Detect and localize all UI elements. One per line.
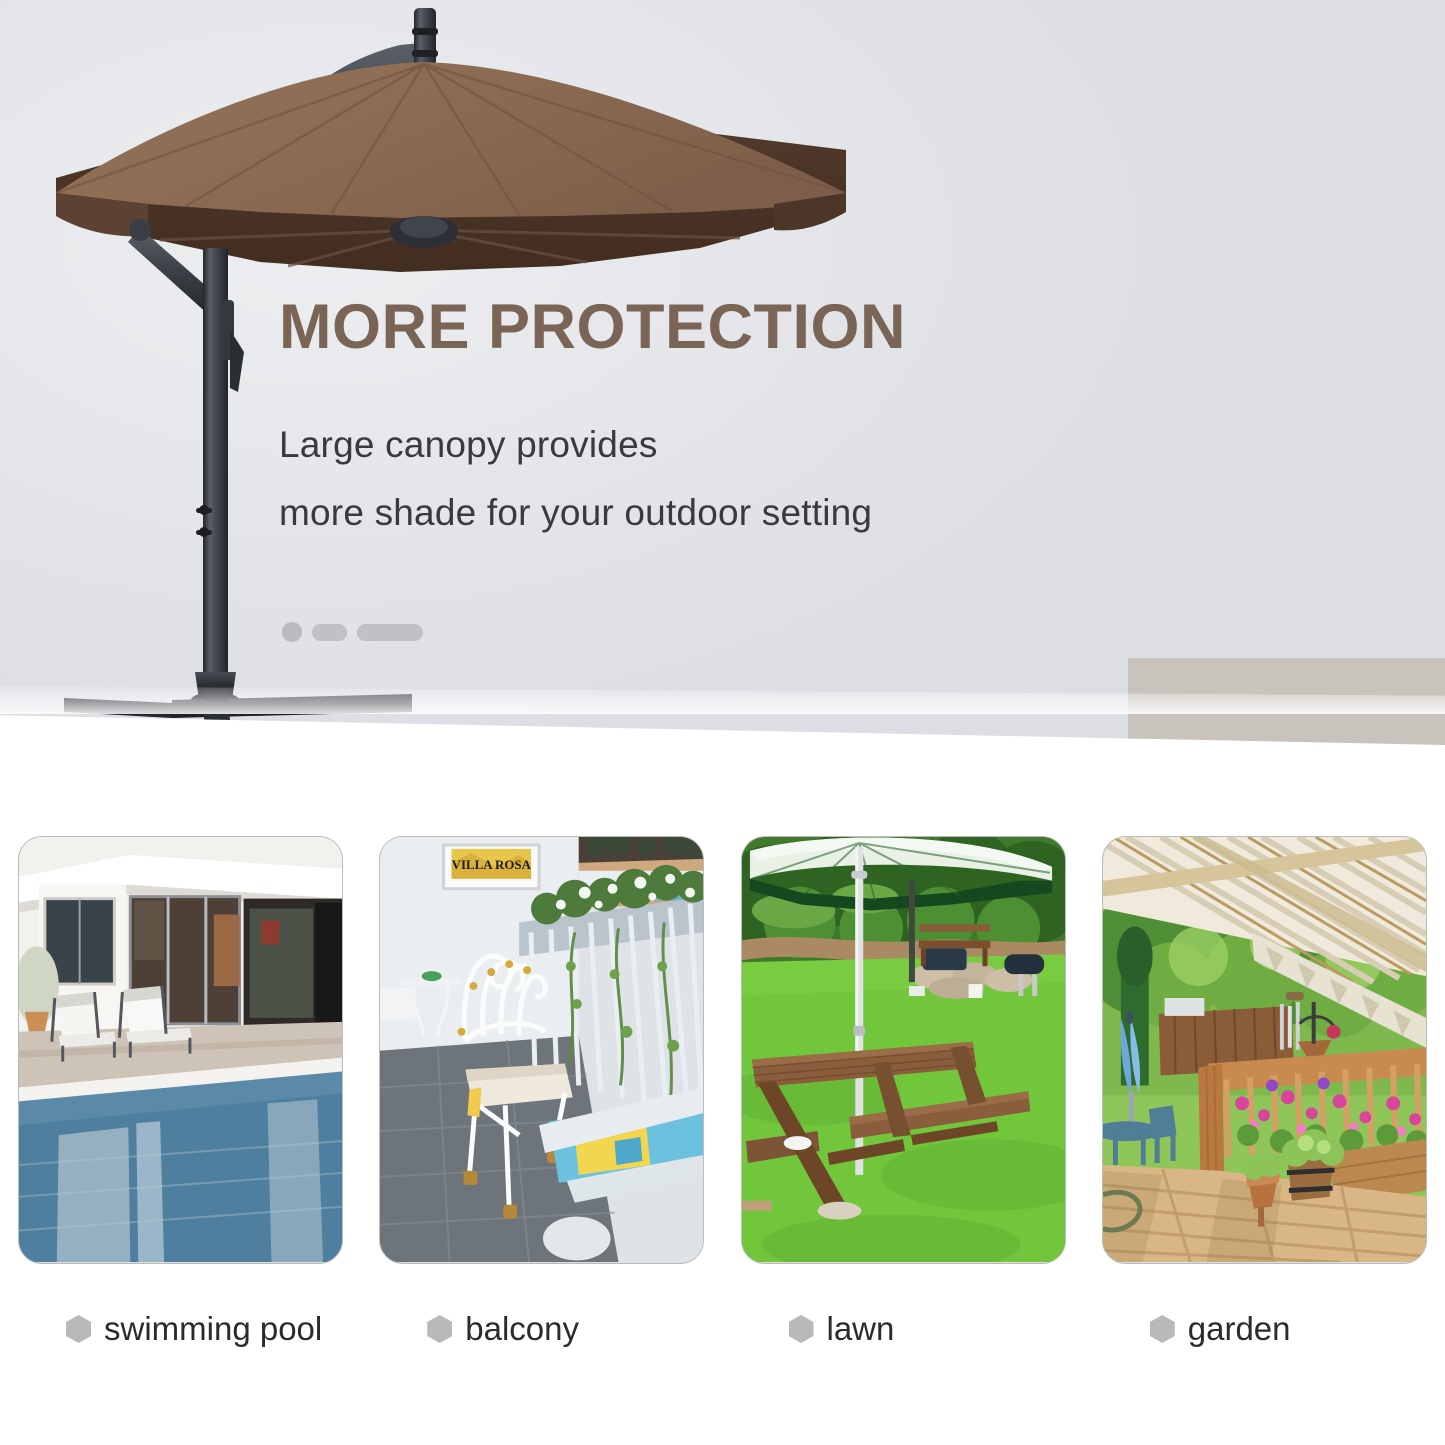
mast-collar-upper	[412, 28, 438, 35]
photo-card-swimming-pool[interactable]	[18, 836, 343, 1264]
caption-label: swimming pool	[104, 1310, 322, 1348]
canopy-top	[56, 62, 846, 218]
gallery-slot-lawn	[723, 836, 1084, 1266]
gallery-slot-swimming-pool	[0, 836, 361, 1266]
svg-text:VILLA ROSA: VILLA ROSA	[452, 857, 532, 872]
decorative-pills	[282, 622, 423, 642]
photo-card-lawn[interactable]	[741, 836, 1066, 1264]
gallery-captions: swimming pool balcony lawn garden	[0, 1294, 1445, 1364]
scene-gallery: VILLA ROSA	[0, 836, 1445, 1266]
hexagon-bullet-icon	[66, 1315, 91, 1343]
caption-label: balcony	[465, 1310, 579, 1348]
hero-section: MORE PROTECTION Large canopy provides mo…	[0, 0, 1445, 800]
photo-balcony: VILLA ROSA	[380, 837, 703, 1262]
page-title: MORE PROTECTION	[279, 296, 906, 359]
caption-label: lawn	[827, 1310, 895, 1348]
photo-card-garden[interactable]	[1102, 836, 1427, 1264]
gallery-slot-garden	[1084, 836, 1445, 1266]
hexagon-bullet-icon	[427, 1315, 452, 1343]
gallery-slot-balcony: VILLA ROSA	[361, 836, 722, 1266]
caption-balcony: balcony	[361, 1294, 722, 1364]
caption-swimming-pool: swimming pool	[0, 1294, 361, 1364]
pill-dot-icon	[282, 622, 302, 642]
hexagon-bullet-icon	[1150, 1315, 1175, 1343]
photo-card-balcony[interactable]: VILLA ROSA	[379, 836, 704, 1264]
photo-swimming-pool	[19, 837, 342, 1262]
brace-pivot-upper	[129, 219, 151, 241]
photo-garden	[1103, 837, 1426, 1262]
pill-short-icon	[312, 624, 347, 641]
mast-collar-lower	[412, 50, 438, 57]
hexagon-bullet-icon	[789, 1315, 814, 1343]
caption-garden: garden	[1084, 1294, 1445, 1364]
canopy-hub-top	[400, 216, 448, 238]
subtitle-line-2: more shade for your outdoor setting	[279, 492, 872, 534]
crank-handle	[230, 330, 244, 392]
photo-lawn	[742, 837, 1065, 1262]
pill-long-icon	[357, 624, 423, 641]
caption-label: garden	[1188, 1310, 1291, 1348]
caption-lawn: lawn	[723, 1294, 1084, 1364]
cantilever-umbrella-illustration	[0, 0, 900, 790]
subtitle-line-1: Large canopy provides	[279, 424, 658, 466]
top-mast	[414, 8, 436, 66]
